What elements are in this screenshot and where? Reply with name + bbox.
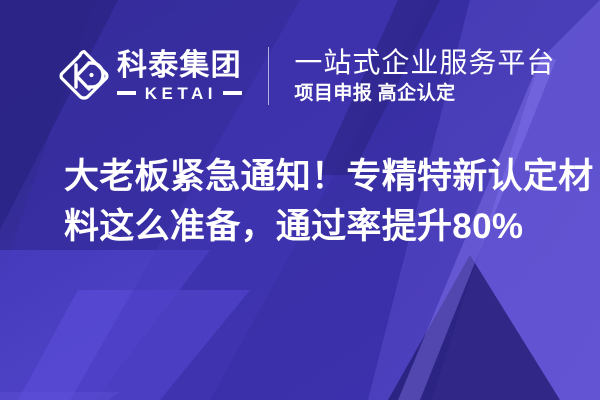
promo-banner: 科泰集团 KETAI 一站式企业服务平台 项目申报 高企认定 大老板紧急通知！专…	[0, 0, 600, 400]
brand-logo[interactable]: 科泰集团 KETAI	[58, 40, 242, 112]
banner-header: 科泰集团 KETAI 一站式企业服务平台 项目申报 高企认定	[58, 40, 555, 112]
bg-bottom-strip	[0, 392, 120, 400]
headline-line-1: 大老板紧急通知！专精特新认定材	[64, 152, 564, 202]
tagline-sub-text: 项目申报 高企认定	[294, 83, 555, 105]
headline-line-2: 料这么准备，通过率提升80%	[64, 202, 564, 252]
dash-left-icon	[117, 91, 136, 95]
tagline-main-text: 一站式企业服务平台	[294, 47, 555, 78]
dash-right-icon	[223, 91, 242, 95]
logo-company-name-en: KETAI	[136, 85, 223, 102]
ketai-diamond-kt-monogram-icon	[58, 48, 110, 104]
headline-block: 大老板紧急通知！专精特新认定材 料这么准备，通过率提升80%	[64, 152, 564, 252]
logo-en-row: KETAI	[117, 85, 242, 102]
brand-tagline: 一站式企业服务平台 项目申报 高企认定	[294, 43, 555, 109]
vertical-divider-icon	[268, 47, 270, 105]
logo-company-name-cn: 科泰集团	[117, 50, 242, 82]
logo-wordmark: 科泰集团 KETAI	[117, 46, 242, 106]
